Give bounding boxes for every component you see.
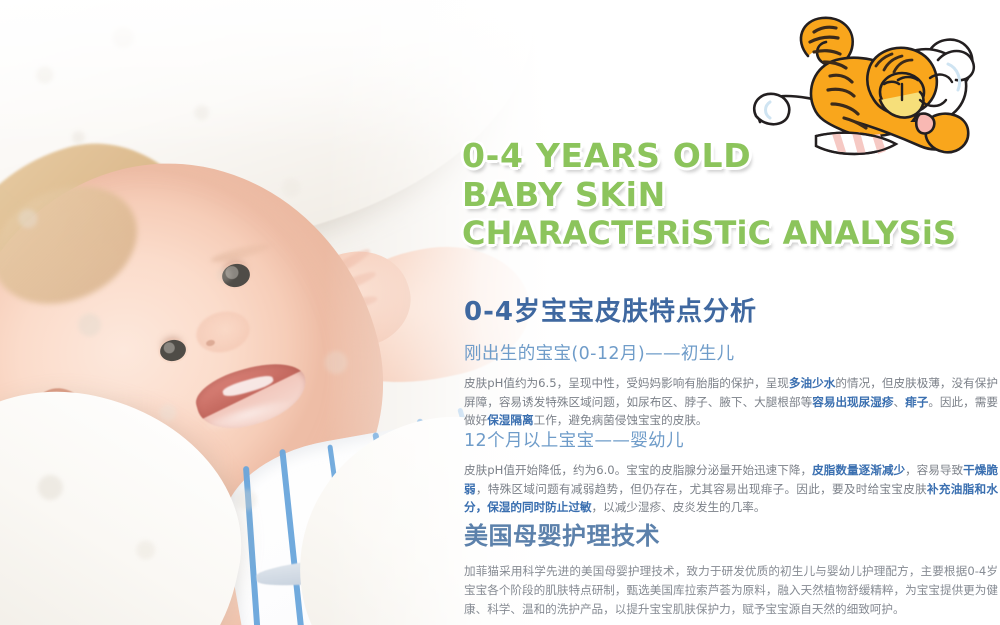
highlighted-text: 皮脂数量逐渐减少 (812, 463, 905, 477)
plain-text: ，特殊区域问题有减弱趋势，但仍存在，尤其容易出现痱子。因此，要及时给宝宝皮肤 (476, 482, 927, 496)
headline-line-1: 0-4 YEARS OLD (462, 136, 1000, 175)
section-subhead: 刚出生的宝宝(0-12月)——初生儿 (464, 340, 998, 365)
section-body: 皮肤pH值开始降低，约为6.0。宝宝的皮脂腺分泌量开始迅速下降，皮脂数量逐渐减少… (464, 461, 998, 517)
highlighted-text: 痱子 (905, 395, 928, 409)
plain-text: 、 (894, 395, 906, 409)
page-title: 0-4岁宝宝皮肤特点分析 (464, 291, 757, 328)
highlighted-text: 多油少水 (789, 376, 835, 390)
section-body: 加菲猫采用科学先进的美国母婴护理技术，致力于研发优质的初生儿与婴幼儿护理配方，主… (464, 562, 998, 618)
content-column: 0-4 YEARS OLD BABY SKiN CHARACTERiSTiC A… (462, 0, 1000, 625)
plain-text: ，以减少湿疹、皮炎发生的几率。 (592, 500, 766, 514)
highlighted-text: 保湿隔离 (487, 413, 533, 427)
headline-line-2: BABY SKiN (462, 175, 1000, 214)
headline-line-3: CHARACTERiSTiC ANALYSiS (462, 214, 1000, 253)
plain-text: 皮肤pH值约为6.5，呈现中性，受妈妈影响有胎脂的保护，呈现 (464, 376, 789, 390)
plain-text: 皮肤pH值开始降低，约为6.0。宝宝的皮脂腺分泌量开始迅速下降， (464, 463, 812, 477)
section-subhead: 美国母婴护理技术 (464, 516, 998, 551)
poster-root: 0-4 YEARS OLD BABY SKiN CHARACTERiSTiC A… (0, 0, 1000, 625)
plain-text: 加菲猫采用科学先进的美国母婴护理技术，致力于研发优质的初生儿与婴幼儿护理配方，主… (464, 564, 998, 616)
highlighted-text: 容易出现尿湿疹 (812, 395, 893, 409)
headline-english: 0-4 YEARS OLD BABY SKiN CHARACTERiSTiC A… (462, 136, 1000, 253)
section-newborn: 刚出生的宝宝(0-12月)——初生儿 皮肤pH值约为6.5，呈现中性，受妈妈影响… (464, 340, 998, 430)
plain-text: 工作，避免病菌侵蚀宝宝的皮肤。 (534, 413, 708, 427)
plain-text: ，容易导致 (905, 463, 963, 477)
section-subhead: 12个月以上宝宝——婴幼儿 (464, 427, 998, 452)
section-infant: 12个月以上宝宝——婴幼儿 皮肤pH值开始降低，约为6.0。宝宝的皮脂腺分泌量开… (464, 427, 998, 517)
section-technology: 美国母婴护理技术 加菲猫采用科学先进的美国母婴护理技术，致力于研发优质的初生儿与… (464, 516, 998, 618)
section-body: 皮肤pH值约为6.5，呈现中性，受妈妈影响有胎脂的保护，呈现多油少水的情况，但皮… (464, 374, 998, 430)
